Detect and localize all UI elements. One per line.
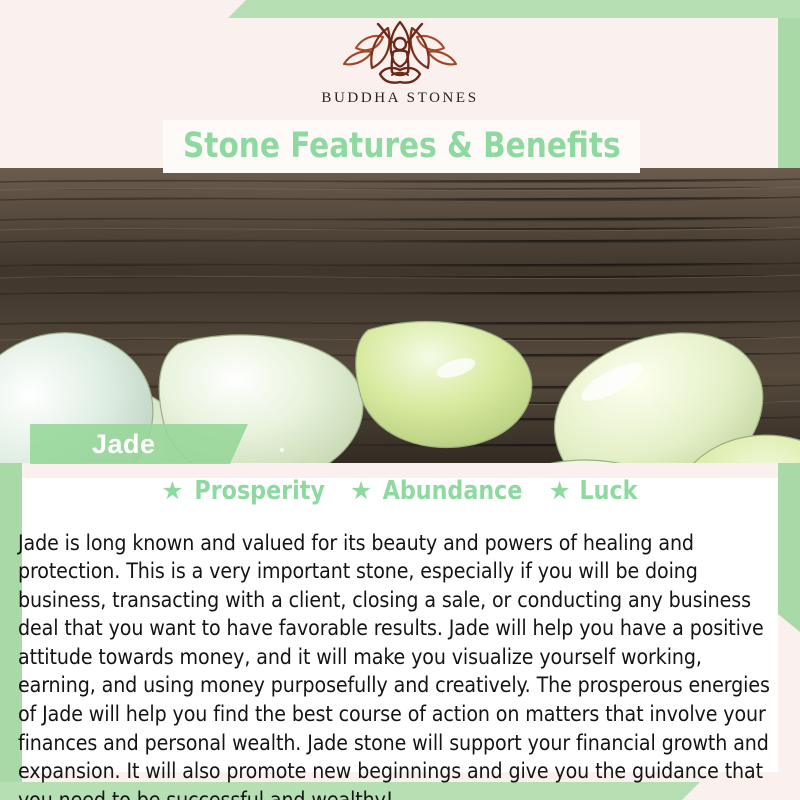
decor-band-top-right xyxy=(228,0,800,18)
benefit-item: ★ Abundance xyxy=(350,478,527,504)
stone-name: Jade xyxy=(92,431,156,458)
stone-info-card: BUDDHA STONES Stone Features & Benefits xyxy=(0,0,800,800)
lotus-meditation-icon xyxy=(336,18,464,88)
benefits-row: ★ Prosperity ★ Abundance ★ Luck xyxy=(0,478,800,504)
page-title: Stone Features & Benefits xyxy=(183,129,621,164)
benefit-label: Luck xyxy=(579,478,637,504)
title-banner: Stone Features & Benefits xyxy=(163,120,640,173)
benefit-label: Abundance xyxy=(383,478,523,504)
benefit-item: ★ Prosperity xyxy=(161,478,328,504)
star-icon: ★ xyxy=(548,479,570,504)
stone-name-badge: Jade xyxy=(30,424,248,464)
star-icon: ★ xyxy=(350,479,372,504)
benefit-label: Prosperity xyxy=(194,478,324,504)
brand-header: BUDDHA STONES xyxy=(0,18,800,118)
star-icon: ★ xyxy=(161,479,183,504)
stone-photo xyxy=(0,168,800,463)
stone-description: Jade is long known and valued for its be… xyxy=(18,530,776,800)
brand-name: BUDDHA STONES xyxy=(321,90,478,107)
benefit-item: ★ Luck xyxy=(548,478,638,504)
